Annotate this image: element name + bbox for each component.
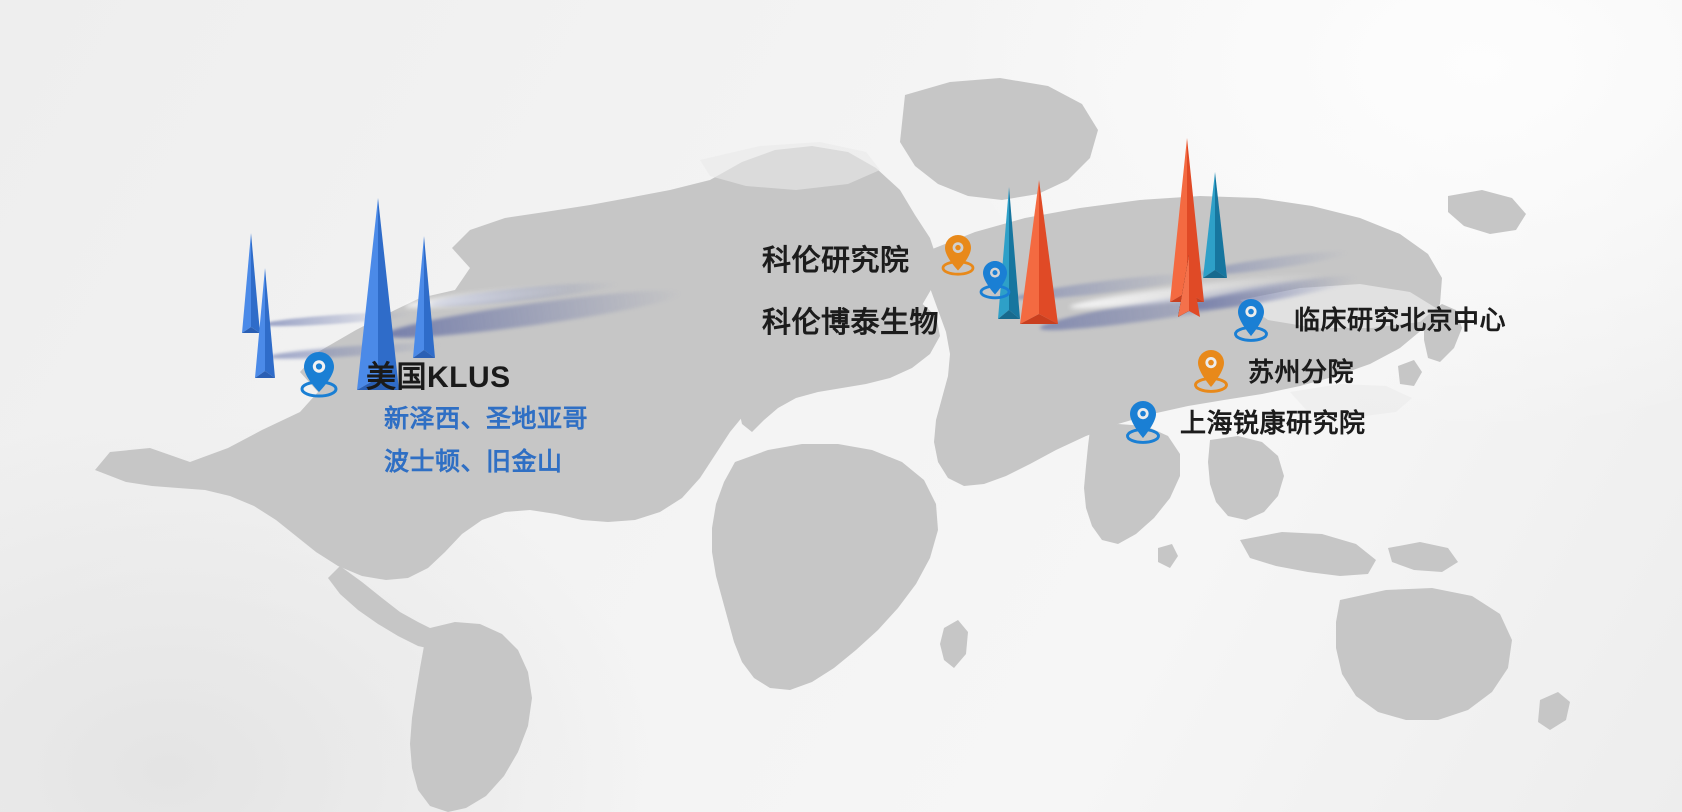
label-shanghai-ruikang-title: 上海锐康研究院	[1180, 403, 1366, 440]
map-pin-icon-kelun-institute[interactable]	[938, 232, 978, 278]
label-us-klus-line-1: 新泽西、圣地亚哥	[384, 400, 588, 440]
map-pin-icon-beijing-clinical[interactable]	[1230, 296, 1272, 344]
label-beijing-clinical-title: 临床研究北京中心	[1294, 300, 1506, 337]
map-pin-icon-kelun-biotech[interactable]	[976, 258, 1014, 302]
map-pin-icon-shanghai-ruikang[interactable]	[1122, 398, 1164, 446]
world-map-infographic: 美国KLUS 新泽西、圣地亚哥 波士顿、旧金山 科伦研究院 科伦博泰生物	[0, 0, 1682, 812]
label-suzhou-branch-title: 苏州分院	[1248, 352, 1354, 389]
label-us-klus-line-2: 波士顿、旧金山	[384, 443, 563, 483]
label-kelun-institute-title: 科伦研究院	[762, 237, 910, 279]
label-layer: 美国KLUS 新泽西、圣地亚哥 波士顿、旧金山 科伦研究院 科伦博泰生物	[0, 0, 1682, 812]
map-pin-icon-us-klus[interactable]	[296, 348, 342, 400]
label-kelun-biotech-title: 科伦博泰生物	[762, 299, 939, 341]
map-pin-icon-suzhou-branch[interactable]	[1190, 347, 1232, 395]
label-us-klus-title: 美国KLUS	[366, 352, 511, 396]
